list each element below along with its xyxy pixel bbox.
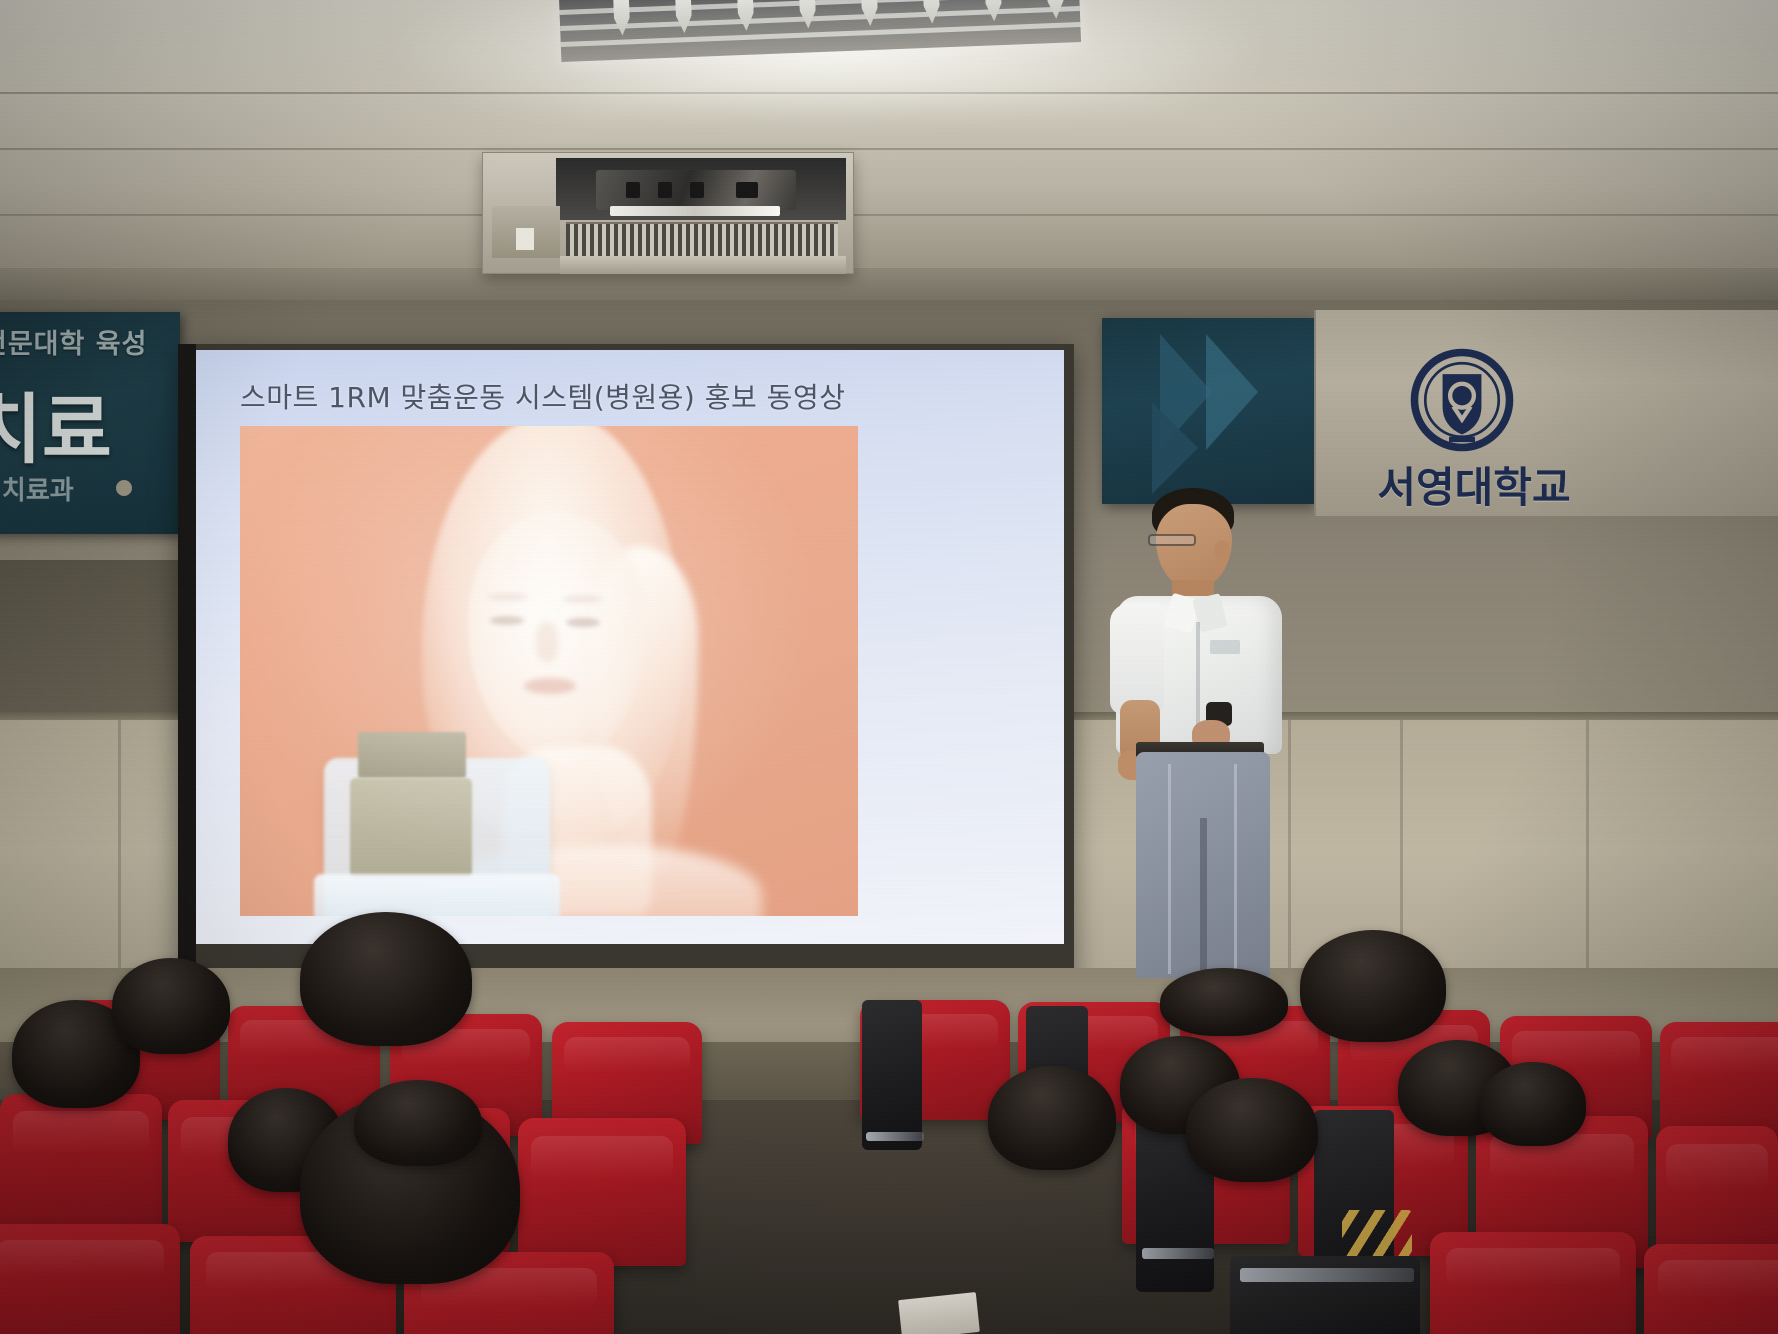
- audience-head: [988, 1066, 1116, 1170]
- audience-head: [300, 912, 472, 1046]
- ac-unit-grille: [566, 222, 838, 256]
- presentation-slide[interactable]: 스마트 1RM 맞춤운동 시스템(병원용) 홍보 동영상: [196, 350, 1064, 944]
- audience-head: [1480, 1062, 1586, 1146]
- projection-screen-edge: [178, 344, 196, 992]
- audience-head: [1160, 968, 1288, 1036]
- seat: [1644, 1244, 1778, 1334]
- left-wall-banner: 전문대학 육성 치료 리치료과: [0, 312, 180, 534]
- left-banner-top-text: 전문대학 육성: [0, 322, 180, 361]
- video-device-body: [350, 778, 472, 878]
- video-device-base: [314, 874, 560, 916]
- video-subject-eye: [566, 618, 600, 627]
- ac-unit-tab: [516, 228, 534, 250]
- seat-trim: [1240, 1268, 1414, 1282]
- audience-head: [354, 1080, 482, 1166]
- chevron-icon: [1152, 402, 1198, 494]
- blue-chevron-banner: [1102, 318, 1314, 504]
- seat: [1430, 1232, 1636, 1334]
- left-banner-bullet-icon: [116, 480, 132, 496]
- university-crest-icon: [1408, 346, 1516, 454]
- video-subject-eye: [490, 616, 524, 625]
- presenter-leg-gap: [1200, 818, 1207, 978]
- presenter-sleeve: [1110, 604, 1164, 714]
- paper-sheet: [898, 1292, 980, 1334]
- ac-unit-lip: [560, 256, 846, 274]
- left-banner-sub-text: 리치료과: [0, 470, 180, 507]
- presenter: [1110, 488, 1310, 988]
- left-banner-main-text: 치료: [0, 368, 180, 478]
- presenter-glasses-icon: [1148, 534, 1196, 546]
- seat: [0, 1224, 180, 1334]
- video-device-display: [358, 732, 466, 778]
- seat-trim: [866, 1132, 924, 1141]
- video-subject-mouth: [524, 678, 576, 694]
- seat: [518, 1118, 686, 1266]
- ac-unit-highlight: [610, 206, 780, 216]
- audience-head: [1186, 1078, 1318, 1182]
- ac-unit-internals: [596, 170, 796, 210]
- chevron-icon: [1206, 334, 1258, 450]
- university-name: 서영대학교: [1344, 454, 1604, 515]
- audience-head: [1300, 930, 1446, 1042]
- seat-back: [862, 1000, 922, 1150]
- slide-title: 스마트 1RM 맞춤운동 시스템(병원용) 홍보 동영상: [240, 376, 845, 416]
- slide-video-frame[interactable]: [240, 426, 858, 916]
- presenter-shirt-pocket: [1210, 640, 1240, 654]
- seat: [0, 1094, 162, 1234]
- presenter-ear: [1214, 540, 1230, 562]
- lecture-hall-scene: 전문대학 육성 치료 리치료과 서영대학교 스마트 1RM 맞춤운동 시스템(병…: [0, 0, 1778, 1334]
- video-subject-nose: [536, 622, 558, 662]
- audience-head: [112, 958, 230, 1054]
- seat-trim: [1142, 1248, 1214, 1259]
